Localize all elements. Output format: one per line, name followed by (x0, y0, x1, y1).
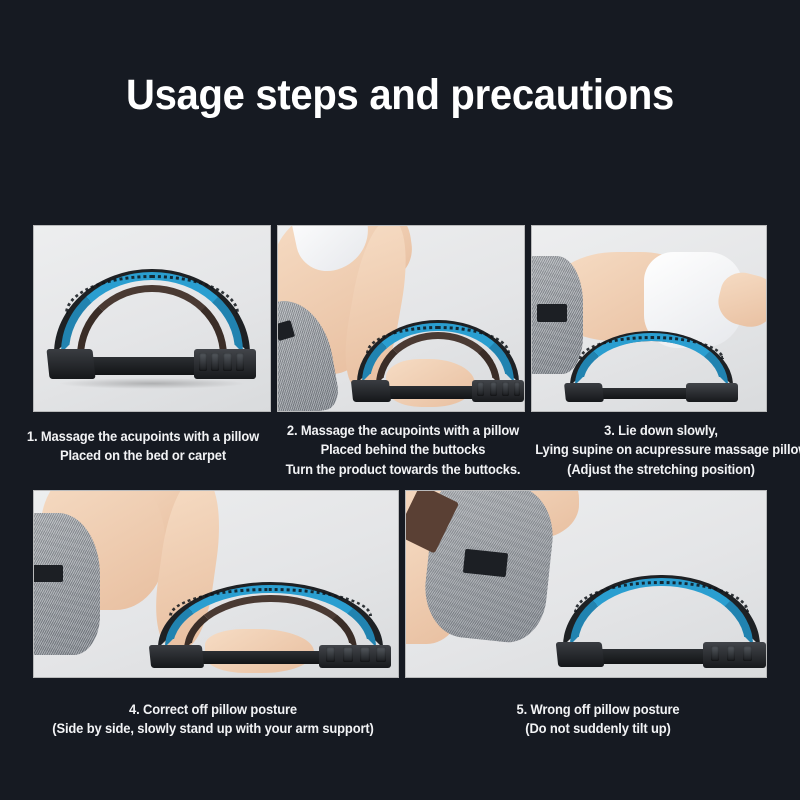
device-adjust-notch (514, 382, 521, 396)
product-photo-3 (532, 226, 766, 411)
caption-line: (Adjust the stretching position) (535, 460, 787, 479)
device-adjust-notch (199, 353, 207, 371)
device-foot-right (194, 349, 256, 379)
device-adjust-notch (711, 646, 719, 662)
device-blue-acupressure-pad (575, 333, 727, 385)
product-photo-2 (278, 226, 524, 411)
caption-line: (Side by side, slowly stand up with your… (26, 719, 400, 738)
caption-line: 1. Massage the acupoints with a pillow (17, 427, 269, 446)
back-stretcher-device (48, 267, 256, 382)
device-adjust-notch (477, 382, 484, 396)
step-caption-3: 3. Lie down slowly, Lying supine on acup… (535, 421, 787, 479)
caption-line: Lying supine on acupressure massage pill… (535, 440, 787, 459)
step-caption-2: 2. Massage the acupoints with a pillow P… (273, 421, 532, 479)
caption-line: Placed behind the buttocks (273, 440, 532, 459)
product-shadow (58, 378, 247, 389)
step-caption-5: 5. Wrong off pillow posture (Do not sudd… (416, 700, 781, 739)
device-adjust-notch (360, 647, 369, 661)
device-foot-left (47, 349, 96, 379)
caption-line: 5. Wrong off pillow posture (416, 700, 781, 719)
step-photo-3 (531, 225, 767, 412)
caption-line: 3. Lie down slowly, (535, 421, 787, 440)
shorts-label-tag (537, 304, 567, 323)
step-caption-4: 4. Correct off pillow posture (Side by s… (26, 700, 400, 739)
device-adjust-notch (211, 353, 219, 371)
step-photo-4 (33, 490, 399, 678)
device-foot-left (351, 380, 391, 402)
caption-line: 2. Massage the acupoints with a pillow (273, 421, 532, 440)
device-adjust-notch (223, 353, 231, 371)
page-title: Usage steps and precautions (28, 74, 772, 117)
shorts-label-tag (462, 548, 507, 577)
step-photo-1 (33, 225, 271, 412)
steps-row-bottom (33, 490, 767, 678)
device-adjust-notch (343, 647, 352, 661)
device-foot-right (703, 642, 766, 667)
steps-row-top (33, 225, 767, 412)
device-foot-right (686, 383, 738, 402)
step-photo-5 (405, 490, 767, 678)
product-photo-4 (34, 491, 398, 677)
back-stretcher-device (150, 580, 390, 669)
shorts-label-tag (33, 565, 63, 582)
device-adjust-notch (326, 647, 335, 661)
caption-line: Placed on the bed or carpet (17, 446, 269, 465)
model-shorts (33, 513, 100, 654)
device-foot-left (149, 645, 204, 668)
device-adjust-notch (727, 646, 735, 662)
device-blue-acupressure-pad (570, 578, 754, 646)
back-stretcher-device (557, 573, 766, 670)
device-foot-left (556, 642, 605, 667)
back-stretcher-device (565, 330, 738, 404)
device-adjust-notch (502, 382, 509, 396)
back-stretcher-device (352, 319, 524, 404)
step-photo-2 (277, 225, 525, 412)
step-caption-1: 1. Massage the acupoints with a pillow P… (17, 427, 269, 466)
caption-line: 4. Correct off pillow posture (26, 700, 400, 719)
caption-line: Turn the product towards the buttocks. (273, 460, 532, 479)
device-foot-right (472, 380, 524, 402)
device-foot-left (564, 383, 604, 402)
device-adjust-notch (376, 647, 385, 661)
device-adjust-notch (236, 353, 244, 371)
device-adjust-notch (490, 382, 497, 396)
product-photo-1 (34, 226, 270, 411)
caption-line: (Do not suddenly tilt up) (416, 719, 781, 738)
device-foot-right (319, 645, 391, 668)
product-photo-5 (406, 491, 766, 677)
device-adjust-notch (743, 646, 751, 662)
